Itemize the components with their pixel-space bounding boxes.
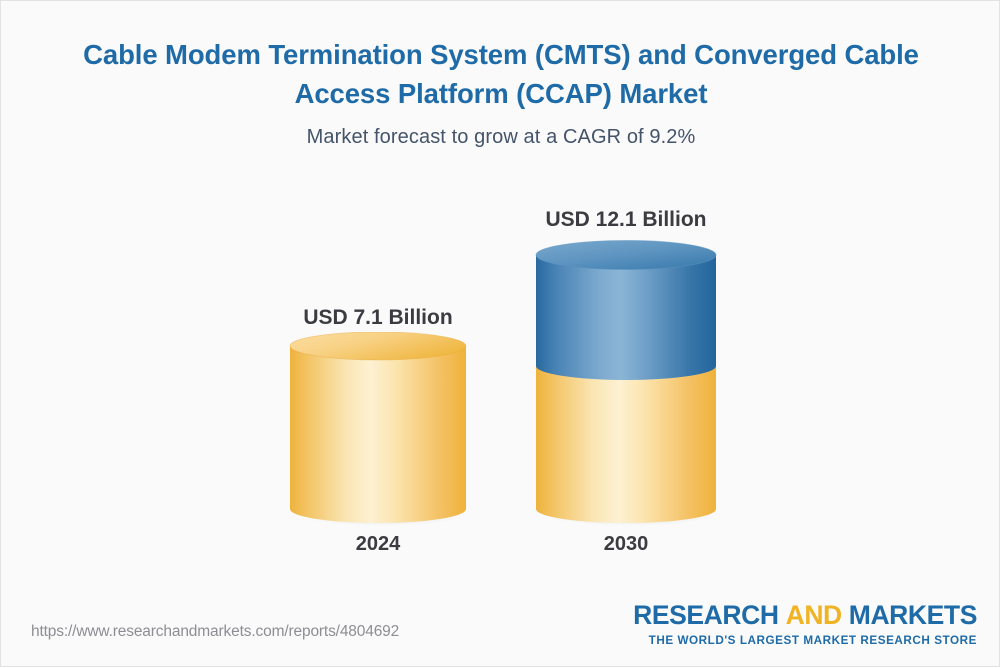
bar-segment-growth-2030 bbox=[536, 255, 716, 380]
logo-word-markets: MARKETS bbox=[849, 600, 977, 630]
bar-cylinder-2024 bbox=[280, 332, 476, 528]
logo-word-and: AND bbox=[786, 600, 842, 630]
logo-wordmark: RESEARCH AND MARKETS bbox=[633, 602, 977, 629]
category-label-2030: 2030 bbox=[526, 533, 726, 556]
logo-tagline: THE WORLD'S LARGEST MARKET RESEARCH STOR… bbox=[633, 634, 977, 647]
value-label-2024: USD 7.1 Billion bbox=[278, 306, 478, 330]
infographic-canvas: Cable Modem Termination System (CMTS) an… bbox=[0, 0, 1000, 667]
bar-cylinder-2030 bbox=[526, 240, 726, 528]
logo-word-research: RESEARCH bbox=[633, 600, 779, 630]
bar-segment-base-2030 bbox=[536, 366, 716, 523]
chart-plot-area: USD 7.1 Billion USD 12.1 Billion 2024 20… bbox=[1, 1, 1000, 668]
category-label-2024: 2024 bbox=[278, 533, 478, 556]
research-and-markets-logo[interactable]: RESEARCH AND MARKETS THE WORLD'S LARGEST… bbox=[633, 602, 977, 647]
bar-body-2024 bbox=[290, 346, 466, 523]
source-url-link[interactable]: https://www.researchandmarkets.com/repor… bbox=[31, 623, 399, 641]
value-label-2030: USD 12.1 Billion bbox=[526, 208, 726, 232]
